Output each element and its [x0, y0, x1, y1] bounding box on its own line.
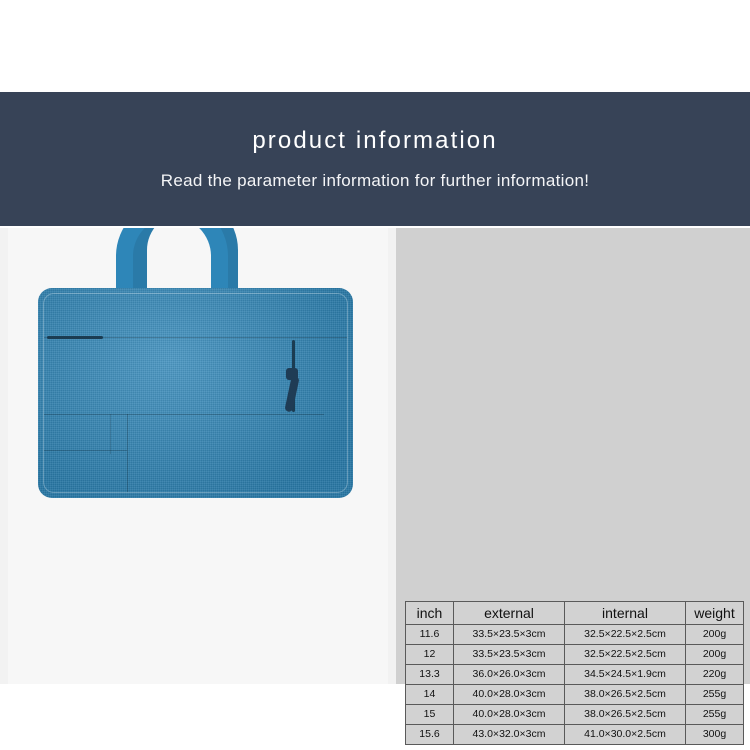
cell-weight: 255g: [686, 685, 744, 705]
cell-external: 33.5×23.5×3cm: [454, 625, 565, 645]
cell-internal: 34.5×24.5×1.9cm: [565, 665, 686, 685]
page-title: product information: [252, 129, 497, 153]
bag-edge-piping: [43, 293, 348, 493]
column-header-inch: inch: [406, 602, 454, 625]
cell-weight: 255g: [686, 705, 744, 725]
cell-internal: 32.5×22.5×2.5cm: [565, 645, 686, 665]
cell-inch: 15.6: [406, 725, 454, 745]
cell-inch: 13.3: [406, 665, 454, 685]
cell-weight: 200g: [686, 645, 744, 665]
column-header-internal: internal: [565, 602, 686, 625]
bag-pocket-divider-1: [127, 414, 128, 492]
product-information-page: product information Read the parameter i…: [0, 0, 750, 750]
cell-external: 40.0×28.0×3cm: [454, 685, 565, 705]
cell-external: 43.0×32.0×3cm: [454, 725, 565, 745]
bag-pocket-seam: [44, 414, 324, 415]
specification-table: inch external internal weight 11.6 33.5×…: [405, 601, 744, 745]
cell-inch: 15: [406, 705, 454, 725]
table-row: 11.6 33.5×23.5×3cm 32.5×22.5×2.5cm 200g: [406, 625, 744, 645]
page-subtitle: Read the parameter information for furth…: [161, 172, 589, 189]
cell-internal: 38.0×26.5×2.5cm: [565, 705, 686, 725]
table-row: 14 40.0×28.0×3cm 38.0×26.5×2.5cm 255g: [406, 685, 744, 705]
cell-inch: 14: [406, 685, 454, 705]
cell-weight: 300g: [686, 725, 744, 745]
table-row: 13.3 36.0×26.0×3cm 34.5×24.5×1.9cm 220g: [406, 665, 744, 685]
cell-external: 36.0×26.0×3cm: [454, 665, 565, 685]
table-row: 12 33.5×23.5×3cm 32.5×22.5×2.5cm 200g: [406, 645, 744, 665]
cell-weight: 200g: [686, 625, 744, 645]
table-header-row: inch external internal weight: [406, 602, 744, 625]
cell-internal: 38.0×26.5×2.5cm: [565, 685, 686, 705]
banner: product information Read the parameter i…: [0, 92, 750, 226]
table-row: 15 40.0×28.0×3cm 38.0×26.5×2.5cm 255g: [406, 705, 744, 725]
cell-external: 33.5×23.5×3cm: [454, 645, 565, 665]
bag-pocket-divider-3: [110, 414, 111, 454]
column-header-weight: weight: [686, 602, 744, 625]
content-area: inch external internal weight 11.6 33.5×…: [0, 228, 750, 684]
column-header-external: external: [454, 602, 565, 625]
bag-slot-zipper: [47, 336, 103, 339]
cell-internal: 41.0×30.0×2.5cm: [565, 725, 686, 745]
cell-inch: 11.6: [406, 625, 454, 645]
bag-pocket-divider-2: [44, 450, 127, 451]
cell-weight: 220g: [686, 665, 744, 685]
product-photo: [8, 228, 388, 684]
cell-inch: 12: [406, 645, 454, 665]
laptop-bag-illustration: [38, 288, 353, 498]
cell-internal: 32.5×22.5×2.5cm: [565, 625, 686, 645]
table-row: 15.6 43.0×32.0×3cm 41.0×30.0×2.5cm 300g: [406, 725, 744, 745]
cell-external: 40.0×28.0×3cm: [454, 705, 565, 725]
